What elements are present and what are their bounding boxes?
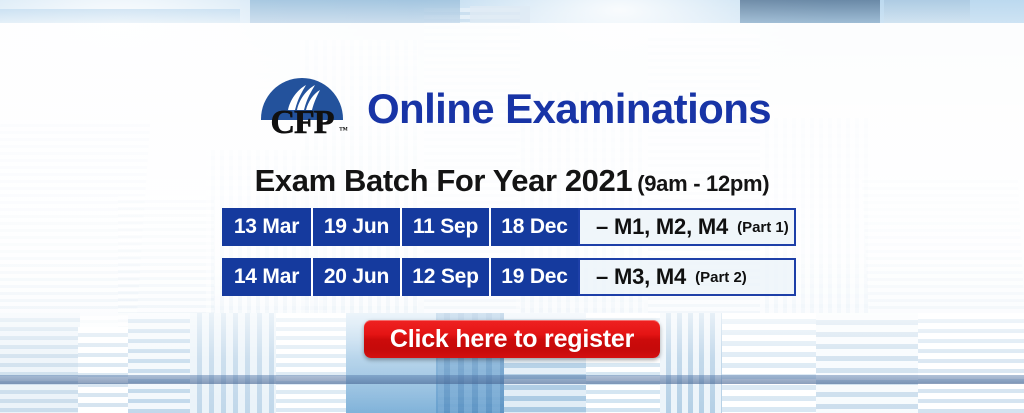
- exam-part-label: (Part 1): [737, 219, 789, 236]
- exam-part-label: (Part 2): [695, 269, 747, 286]
- cfp-logo: CFP ™: [253, 78, 351, 140]
- exam-date-cell: 13 Mar: [222, 208, 311, 246]
- exam-date-cell: 11 Sep: [400, 208, 489, 246]
- exam-date-cell: 19 Dec: [489, 258, 578, 296]
- exam-schedule-table: 13 Mar 19 Jun 11 Sep 18 Dec – M1, M2, M4…: [222, 208, 796, 308]
- table-row: 14 Mar 20 Jun 12 Sep 19 Dec – M3, M4 (Pa…: [222, 258, 796, 296]
- banner-header: CFP ™ Online Examinations: [0, 78, 1024, 140]
- subtitle-main: Exam Batch For Year 2021: [255, 163, 633, 198]
- subtitle-time: (9am - 12pm): [637, 171, 769, 196]
- exam-date-cell: 14 Mar: [222, 258, 311, 296]
- exam-date-cell: 12 Sep: [400, 258, 489, 296]
- subtitle: Exam Batch For Year 2021(9am - 12pm): [0, 163, 1024, 199]
- exam-modules-cell: – M3, M4 (Part 2): [578, 258, 796, 296]
- register-button[interactable]: Click here to register: [364, 320, 660, 358]
- cfp-trademark-symbol: ™: [339, 125, 348, 135]
- cfp-wordmark: CFP: [253, 106, 351, 140]
- exam-modules-label: – M1, M2, M4: [596, 214, 728, 240]
- exam-date-cell: 19 Jun: [311, 208, 400, 246]
- exam-modules-cell: – M1, M2, M4 (Part 1): [578, 208, 796, 246]
- page-title: Online Examinations: [367, 88, 771, 130]
- cfp-online-examinations-banner: CFP ™ Online Examinations Exam Batch For…: [0, 0, 1024, 413]
- exam-modules-label: – M3, M4: [596, 264, 686, 290]
- exam-date-cell: 18 Dec: [489, 208, 578, 246]
- exam-date-cell: 20 Jun: [311, 258, 400, 296]
- cta-container: Click here to register: [0, 320, 1024, 358]
- table-row: 13 Mar 19 Jun 11 Sep 18 Dec – M1, M2, M4…: [222, 208, 796, 246]
